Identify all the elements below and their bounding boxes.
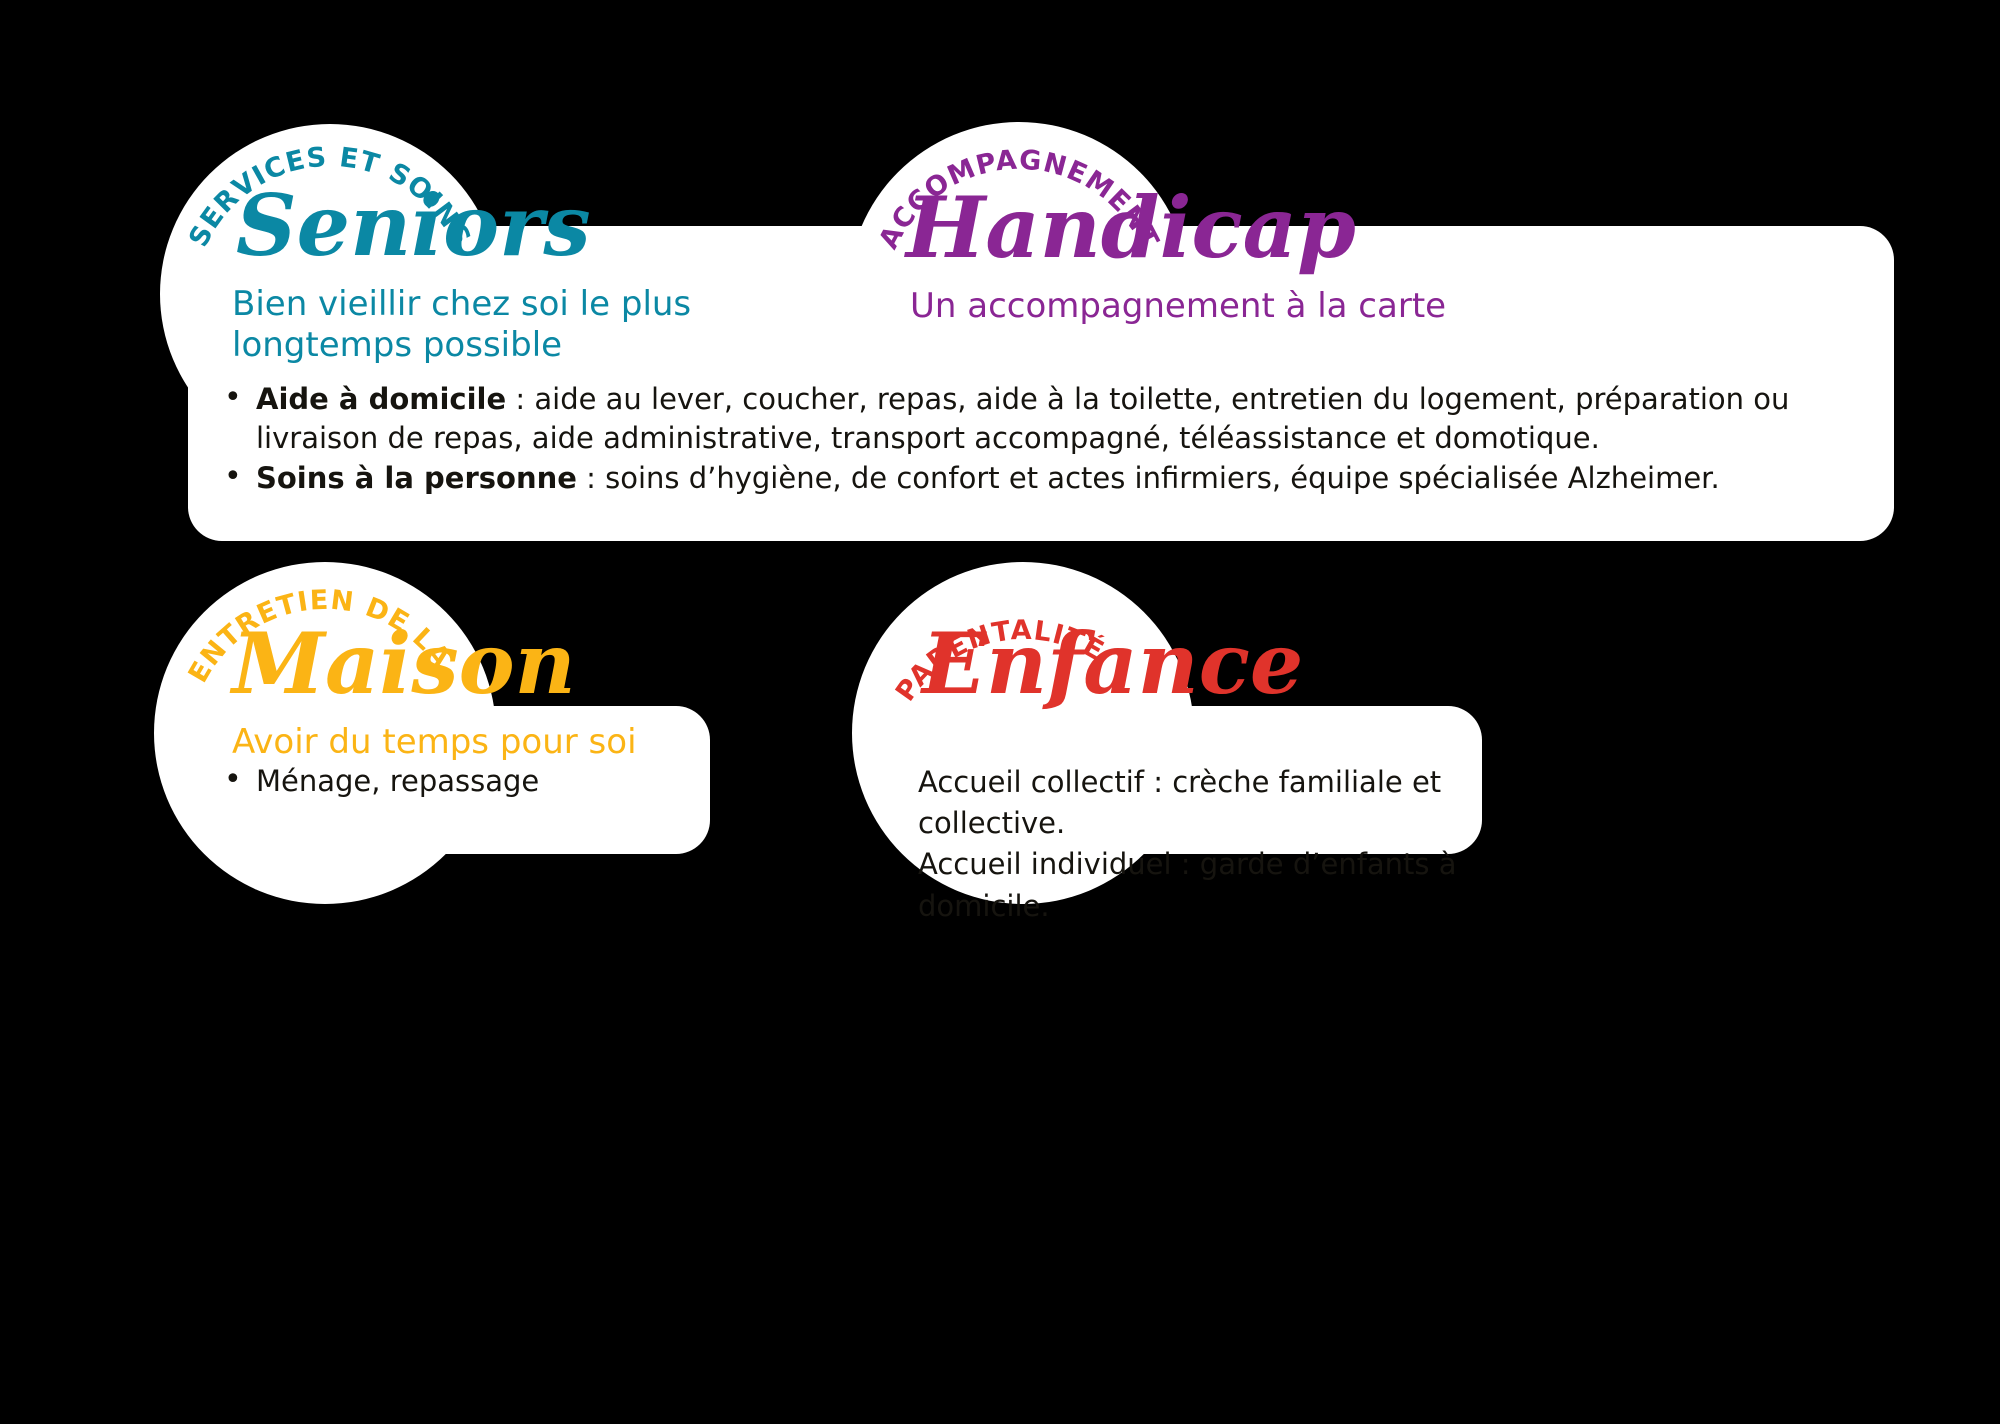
subtitle-maison: Avoir du temps pour soi — [232, 722, 702, 763]
infographic-root: SERVICES ET SOINS Seniors Bien vieillir … — [0, 0, 2000, 1424]
maison-bullet-list: Ménage, repassage — [216, 762, 696, 803]
bullet-lead: Soins à la personne — [256, 461, 577, 495]
list-item: Ménage, repassage — [216, 762, 696, 801]
title-seniors: Seniors — [236, 184, 591, 268]
title-handicap: Handicap — [906, 186, 1356, 270]
title-enfance: Enfance — [922, 622, 1303, 706]
bullet-rest: : soins d’hygiène, de confort et actes i… — [577, 461, 1720, 495]
enfance-text-block: Accueil collectif : crèche familiale et … — [918, 762, 1478, 927]
bullet-rest: Ménage, repassage — [256, 764, 539, 798]
title-maison: Maison — [232, 622, 576, 706]
bullet-lead: Aide à domicile — [256, 382, 506, 416]
subtitle-handicap: Un accompagnement à la carte — [910, 286, 1530, 327]
seniors-bullet-list: Aide à domicile : aide au lever, coucher… — [216, 380, 1856, 500]
list-item: Soins à la personne : soins d’hygiène, d… — [216, 459, 1856, 498]
subtitle-seniors: Bien vieillir chez soi le plus longtemps… — [232, 284, 792, 367]
enfance-line: Accueil collectif : crèche familiale et … — [918, 762, 1478, 844]
enfance-line: Accueil individuel : garde d’enfants à d… — [918, 844, 1478, 926]
list-item: Aide à domicile : aide au lever, coucher… — [216, 380, 1856, 457]
